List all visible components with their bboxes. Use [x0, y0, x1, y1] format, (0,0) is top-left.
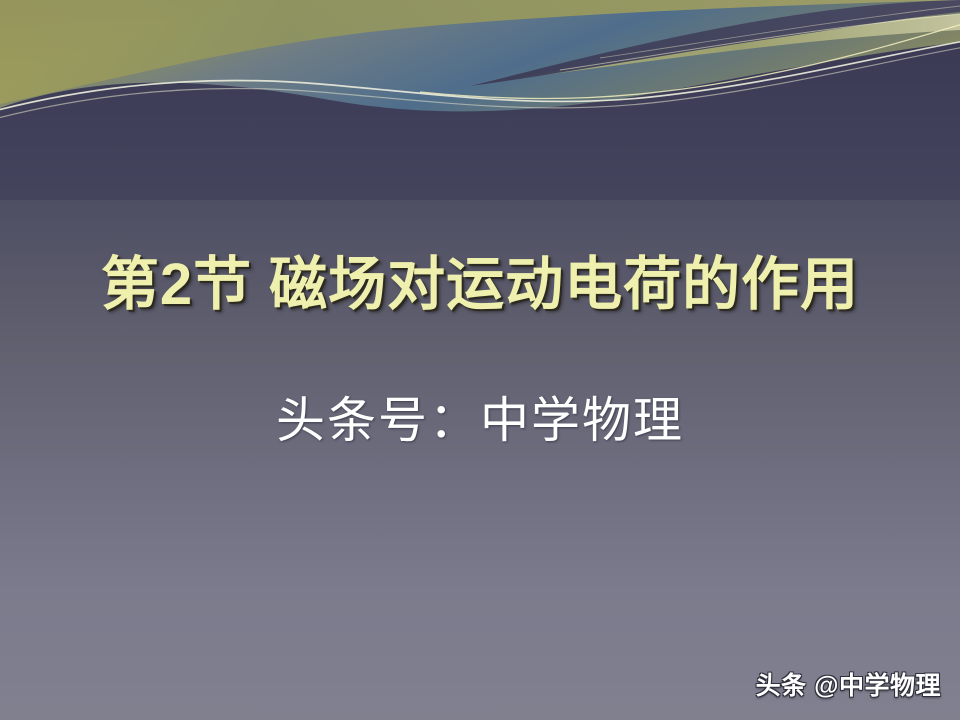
subtitle-container: 头条号：中学物理 — [0, 392, 960, 451]
slide-subtitle: 头条号：中学物理 — [276, 392, 684, 451]
watermark-label: 头条 @中学物理 — [756, 666, 941, 702]
wave-banner-decoration — [0, 0, 960, 200]
presentation-slide: 第2节 磁场对运动电荷的作用 头条号：中学物理 头条 @中学物理 — [0, 0, 960, 720]
title-container: 第2节 磁场对运动电荷的作用 — [0, 252, 960, 319]
page-title: 第2节 磁场对运动电荷的作用 — [101, 252, 859, 319]
